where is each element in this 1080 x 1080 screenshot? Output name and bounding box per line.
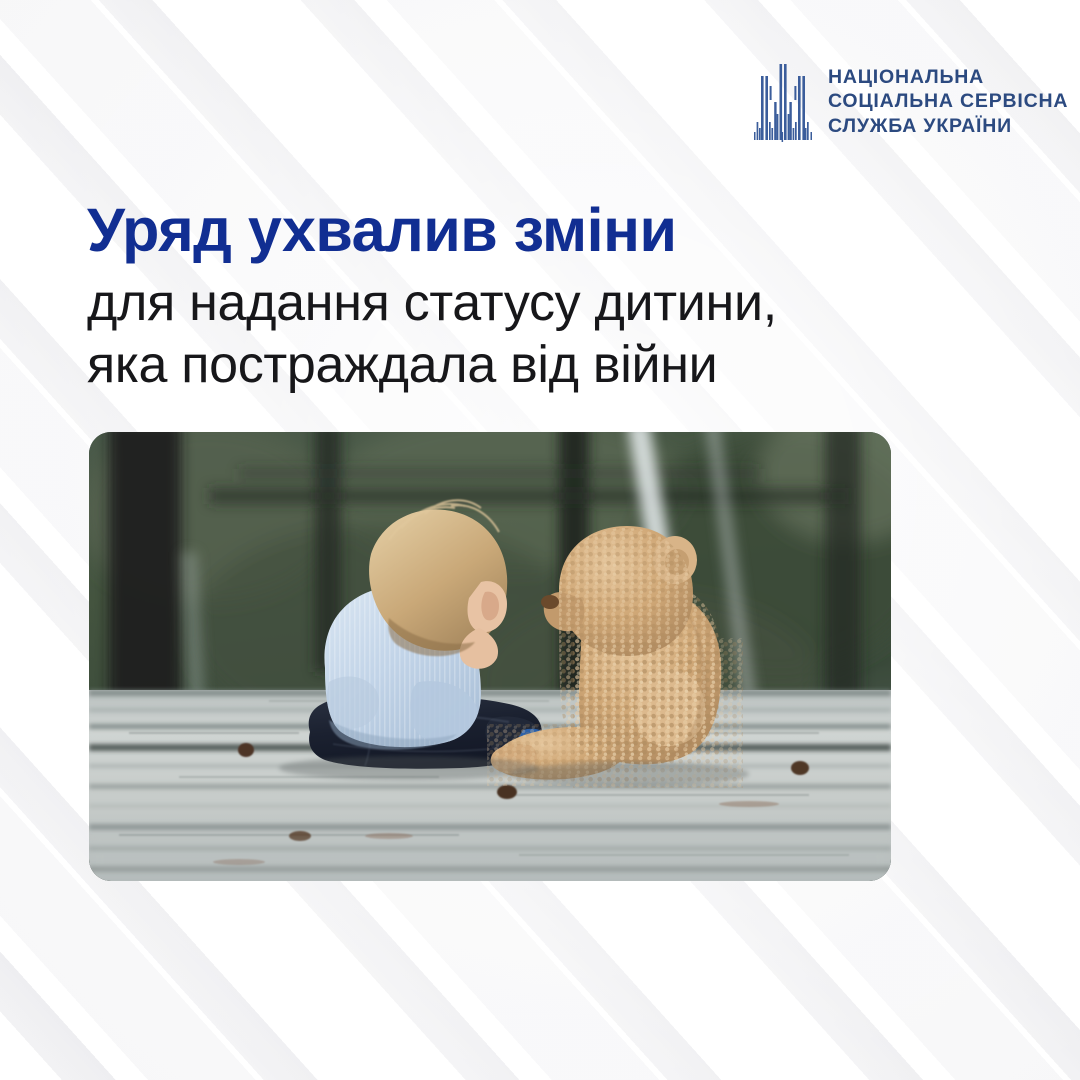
logo-wordmark-line-1: НАЦІОНАЛЬНА: [828, 67, 1068, 88]
nssu-trident-bars-logo-icon: [752, 62, 814, 142]
hero-photo-card: [89, 432, 891, 881]
logo-wordmark-line-2: СОЦІАЛЬНА СЕРВІСНА: [828, 91, 1068, 112]
headline-secondary-line-1: для надання статусу дитини,: [87, 273, 967, 334]
photo-child-shadow: [279, 756, 539, 780]
photo-foreground-haze: [89, 840, 891, 881]
headline-block: Уряд ухвалив зміни для надання статусу д…: [87, 196, 967, 396]
logo-wordmark: НАЦІОНАЛЬНА СОЦІАЛЬНА СЕРВІСНА СЛУЖБА УК…: [828, 67, 1068, 136]
organization-logo-lockup: НАЦІОНАЛЬНА СОЦІАЛЬНА СЕРВІСНА СЛУЖБА УК…: [752, 62, 1068, 142]
headline-secondary-line-2: яка постраждала від війни: [87, 335, 967, 396]
headline-primary: Уряд ухвалив зміни: [87, 196, 967, 264]
infographic-canvas: НАЦІОНАЛЬНА СОЦІАЛЬНА СЕРВІСНА СЛУЖБА УК…: [0, 0, 1080, 1080]
hero-photo-illustration: [89, 432, 891, 881]
logo-wordmark-line-3: СЛУЖБА УКРАЇНИ: [828, 116, 1068, 137]
